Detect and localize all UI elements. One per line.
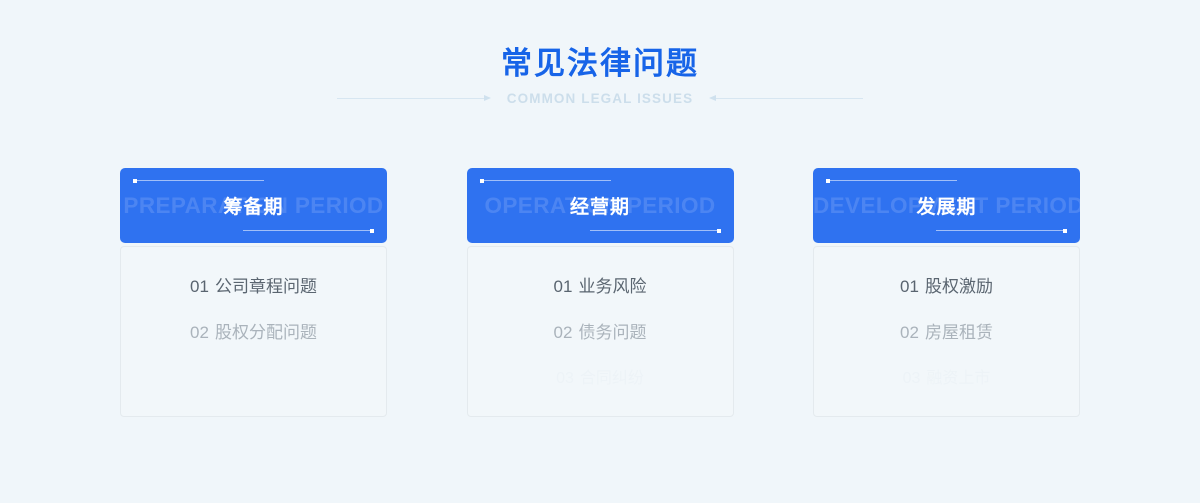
page-root: 常见法律问题 COMMON LEGAL ISSUES PREPARATION P… [0, 0, 1200, 503]
list-item-label: 合同纠纷 [580, 370, 644, 387]
list-item[interactable] [121, 367, 386, 390]
card-body: 01股权激励 02房屋租赁 03融资上市 [813, 246, 1080, 417]
card-header: DEVELOPMENT PERIOD 发展期 [813, 168, 1080, 243]
decoration-dot-icon [717, 229, 721, 233]
decoration-line-top [481, 180, 611, 181]
list-item-label: 债务问题 [578, 323, 646, 342]
page-heading: 常见法律问题 COMMON LEGAL ISSUES [0, 44, 1200, 106]
list-item-label: 股权分配问题 [215, 323, 317, 342]
subtitle-row: COMMON LEGAL ISSUES [0, 91, 1200, 106]
card-title: 经营期 [570, 192, 630, 219]
list-item-number: 03 [903, 370, 921, 387]
decoration-dot-icon [133, 179, 137, 183]
list-item-label: 股权激励 [925, 277, 993, 296]
subtitle-line-left [337, 98, 485, 99]
list-item-label: 房屋租赁 [925, 323, 993, 342]
list-item-number: 01 [554, 277, 573, 296]
decoration-dot-icon [480, 179, 484, 183]
decoration-dot-icon [1063, 229, 1067, 233]
card-operation-period[interactable]: OPERATION PERIOD 经营期 01业务风险 02债务问题 03合同纠… [467, 168, 734, 417]
list-item-number: 01 [900, 277, 919, 296]
list-item-number: 03 [556, 370, 574, 387]
list-item[interactable]: 01股权激励 [814, 275, 1079, 298]
list-item[interactable]: 01业务风险 [468, 275, 733, 298]
page-title: 常见法律问题 [0, 44, 1200, 84]
list-item[interactable]: 02债务问题 [468, 321, 733, 344]
card-header: PREPARATION PERIOD 筹备期 [120, 168, 387, 243]
list-item-number: 02 [190, 323, 209, 342]
arrow-left-icon [709, 95, 716, 101]
decoration-line-top [827, 180, 957, 181]
list-item-label: 融资上市 [926, 370, 990, 387]
list-item-number: 02 [554, 323, 573, 342]
subtitle-line-right [715, 98, 863, 99]
list-item[interactable]: 03融资上市 [814, 367, 1079, 390]
decoration-dot-icon [370, 229, 374, 233]
card-preparation-period[interactable]: PREPARATION PERIOD 筹备期 01公司章程问题 02股权分配问题 [120, 168, 387, 417]
list-item-label: 业务风险 [578, 277, 646, 296]
list-item-number: 02 [900, 323, 919, 342]
list-item[interactable]: 02房屋租赁 [814, 321, 1079, 344]
card-title: 筹备期 [223, 192, 283, 219]
arrow-right-icon [484, 95, 491, 101]
decoration-line-bottom [243, 230, 373, 231]
list-item[interactable]: 03合同纠纷 [468, 367, 733, 390]
decoration-line-bottom [590, 230, 720, 231]
page-subtitle: COMMON LEGAL ISSUES [507, 91, 693, 106]
decoration-line-bottom [936, 230, 1066, 231]
list-item-label: 公司章程问题 [215, 277, 317, 296]
list-item[interactable]: 02股权分配问题 [121, 321, 386, 344]
decoration-line-top [134, 180, 264, 181]
card-development-period[interactable]: DEVELOPMENT PERIOD 发展期 01股权激励 02房屋租赁 03融… [813, 168, 1080, 417]
list-item[interactable]: 01公司章程问题 [121, 275, 386, 298]
list-item-number: 01 [190, 277, 209, 296]
card-title: 发展期 [916, 192, 976, 219]
card-body: 01业务风险 02债务问题 03合同纠纷 [467, 246, 734, 417]
card-header: OPERATION PERIOD 经营期 [467, 168, 734, 243]
decoration-dot-icon [826, 179, 830, 183]
cards-container: PREPARATION PERIOD 筹备期 01公司章程问题 02股权分配问题 [120, 168, 1080, 417]
card-body: 01公司章程问题 02股权分配问题 [120, 246, 387, 417]
